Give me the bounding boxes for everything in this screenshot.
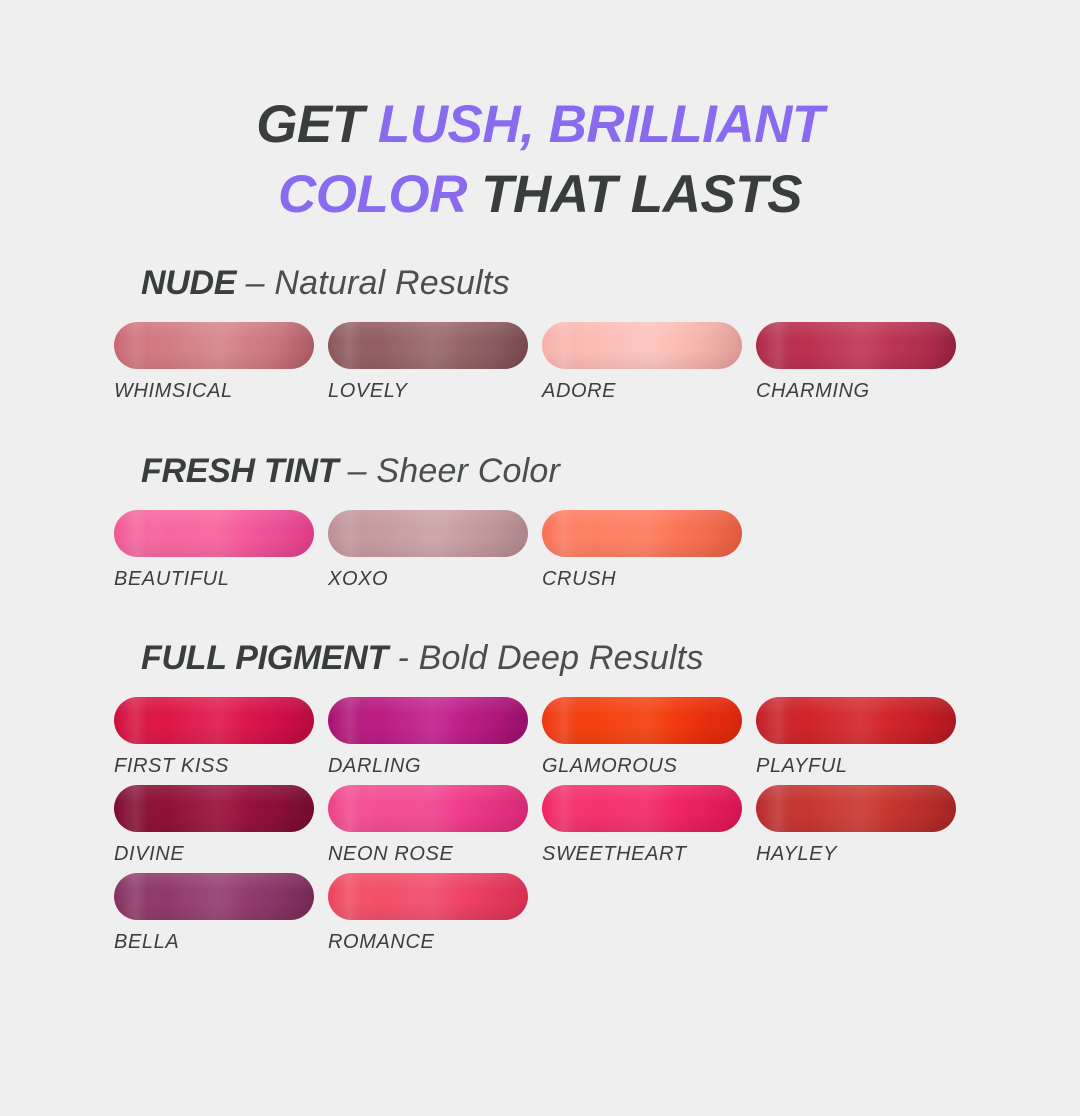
shade-chart-page: GET LUSH, BRILLIANT COLOR THAT LASTS NUD… xyxy=(0,36,1080,1116)
swatch-cell[interactable]: CHARMING xyxy=(756,322,970,403)
headline-line-2: COLOR THAT LASTS xyxy=(0,160,1080,230)
section-heading-full-pigment: FULL PIGMENT - Bold Deep Results xyxy=(114,641,1080,675)
swatch-label: CRUSH xyxy=(542,568,756,591)
swatch-label: NEON ROSE xyxy=(328,843,542,866)
swatch-cell[interactable]: ADORE xyxy=(542,322,756,403)
swatch-cell[interactable]: LOVELY xyxy=(328,322,542,403)
swatch-cell[interactable]: DIVINE xyxy=(114,785,328,866)
swatch-cell[interactable]: HAYLEY xyxy=(756,785,970,866)
swatch-label: PLAYFUL xyxy=(756,755,970,778)
section-fresh-tint: FRESH TINT – Sheer Color BEAUTIFUL XOXO … xyxy=(114,454,1080,598)
swatch-cell[interactable]: GLAMOROUS xyxy=(542,697,756,778)
section-full-pigment: FULL PIGMENT - Bold Deep Results FIRST K… xyxy=(114,641,1080,961)
color-swatch[interactable] xyxy=(114,785,314,832)
color-swatch[interactable] xyxy=(328,873,528,920)
swatch-label: ADORE xyxy=(542,380,756,403)
swatch-cell[interactable]: WHIMSICAL xyxy=(114,322,328,403)
section-spacer xyxy=(114,598,1080,641)
swatch-grid-fresh-tint: BEAUTIFUL XOXO CRUSH xyxy=(114,510,994,598)
swatch-label: BELLA xyxy=(114,931,328,954)
color-swatch[interactable] xyxy=(328,322,528,369)
headline-accent-1: LUSH, BRILLIANT xyxy=(378,95,824,154)
swatch-grid-nude: WHIMSICAL LOVELY ADORE CHARMING xyxy=(114,322,994,410)
swatch-label: GLAMOROUS xyxy=(542,755,756,778)
section-spacer xyxy=(114,410,1080,454)
color-swatch[interactable] xyxy=(114,510,314,557)
color-swatch[interactable] xyxy=(114,697,314,744)
swatch-label: WHIMSICAL xyxy=(114,380,328,403)
color-swatch[interactable] xyxy=(756,322,956,369)
color-swatch[interactable] xyxy=(114,322,314,369)
swatch-label: CHARMING xyxy=(756,380,970,403)
section-description-full-pigment: - Bold Deep Results xyxy=(397,639,703,677)
swatch-label: ROMANCE xyxy=(328,931,542,954)
swatch-label: SWEETHEART xyxy=(542,843,756,866)
color-swatch[interactable] xyxy=(756,785,956,832)
swatch-cell[interactable]: DARLING xyxy=(328,697,542,778)
swatch-cell[interactable]: FIRST KISS xyxy=(114,697,328,778)
color-swatch[interactable] xyxy=(542,697,742,744)
headline-dark-1: GET xyxy=(256,95,378,154)
color-swatch[interactable] xyxy=(328,785,528,832)
color-swatch[interactable] xyxy=(542,785,742,832)
color-swatch[interactable] xyxy=(328,697,528,744)
swatch-label: LOVELY xyxy=(328,380,542,403)
swatch-grid-full-pigment: FIRST KISS DARLING GLAMOROUS PLAYFUL DIV xyxy=(114,697,994,961)
section-category-full-pigment: FULL PIGMENT xyxy=(141,639,388,677)
section-description-nude: – Natural Results xyxy=(246,264,510,302)
color-swatch[interactable] xyxy=(542,322,742,369)
shade-sections: NUDE – Natural Results WHIMSICAL LOVELY … xyxy=(0,266,1080,961)
section-heading-nude: NUDE – Natural Results xyxy=(114,266,1080,300)
color-swatch[interactable] xyxy=(114,873,314,920)
swatch-label: HAYLEY xyxy=(756,843,970,866)
swatch-cell[interactable]: NEON ROSE xyxy=(328,785,542,866)
color-swatch[interactable] xyxy=(328,510,528,557)
swatch-cell[interactable]: CRUSH xyxy=(542,510,756,591)
swatch-label: FIRST KISS xyxy=(114,755,328,778)
swatch-label: DARLING xyxy=(328,755,542,778)
section-category-nude: NUDE xyxy=(141,264,236,302)
swatch-label: XOXO xyxy=(328,568,542,591)
headline-dark-2: THAT LASTS xyxy=(481,165,802,224)
color-swatch[interactable] xyxy=(542,510,742,557)
section-nude: NUDE – Natural Results WHIMSICAL LOVELY … xyxy=(114,266,1080,410)
headline-line-1: GET LUSH, BRILLIANT xyxy=(0,90,1080,160)
section-heading-fresh-tint: FRESH TINT – Sheer Color xyxy=(114,454,1080,488)
color-swatch[interactable] xyxy=(756,697,956,744)
page-title: GET LUSH, BRILLIANT COLOR THAT LASTS xyxy=(0,36,1080,231)
headline-accent-2: COLOR xyxy=(278,165,481,224)
swatch-cell[interactable]: ROMANCE xyxy=(328,873,542,954)
swatch-label: DIVINE xyxy=(114,843,328,866)
swatch-cell[interactable]: PLAYFUL xyxy=(756,697,970,778)
swatch-cell[interactable]: BELLA xyxy=(114,873,328,954)
swatch-cell[interactable]: SWEETHEART xyxy=(542,785,756,866)
swatch-cell[interactable]: BEAUTIFUL xyxy=(114,510,328,591)
swatch-label: BEAUTIFUL xyxy=(114,568,328,591)
section-category-fresh-tint: FRESH TINT xyxy=(141,452,338,490)
swatch-cell[interactable]: XOXO xyxy=(328,510,542,591)
section-description-fresh-tint: – Sheer Color xyxy=(348,452,560,490)
